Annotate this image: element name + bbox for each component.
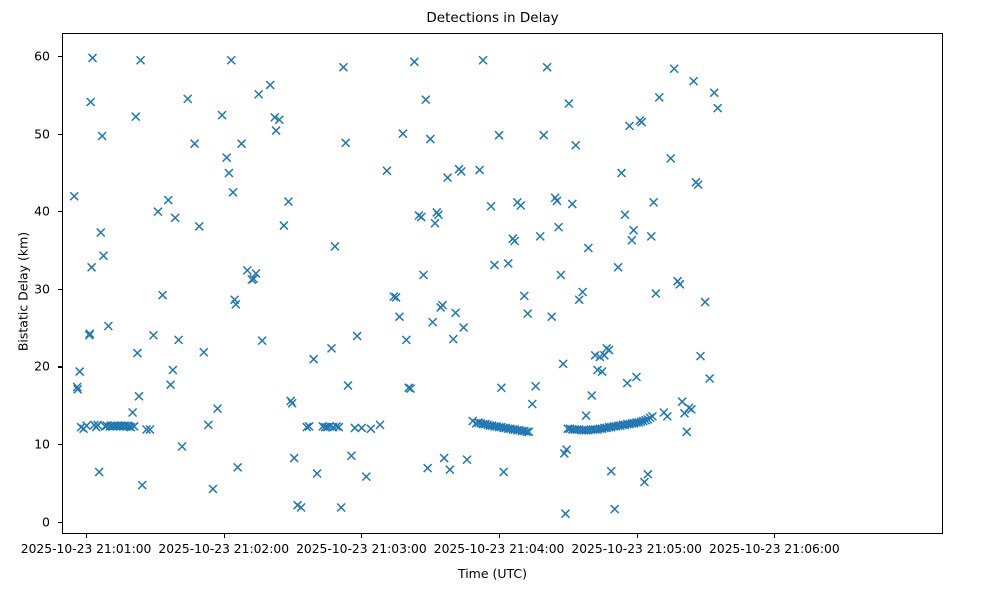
- y-tick-mark: [58, 211, 62, 212]
- chart-title: Detections in Delay: [0, 10, 985, 26]
- scatter-layer: [63, 34, 942, 533]
- y-tick-mark: [58, 134, 62, 135]
- x-tick-mark: [86, 534, 87, 538]
- x-tick-label: 2025-10-23 21:06:00: [709, 542, 840, 556]
- x-tick-mark: [499, 534, 500, 538]
- y-tick-label: 60: [10, 49, 50, 64]
- x-tick-label: 2025-10-23 21:04:00: [434, 542, 565, 556]
- y-tick-mark: [58, 56, 62, 57]
- plot-area: [62, 33, 943, 534]
- x-tick-label: 2025-10-23 21:02:00: [158, 542, 289, 556]
- figure: Detections in Delay 0102030405060 2025-1…: [0, 0, 985, 590]
- x-tick-mark: [361, 534, 362, 538]
- x-axis-label: Time (UTC): [0, 566, 985, 581]
- x-tick-mark: [774, 534, 775, 538]
- x-tick-label: 2025-10-23 21:03:00: [296, 542, 427, 556]
- y-tick-label: 0: [10, 514, 50, 529]
- y-axis-label: Bistatic Delay (km): [16, 152, 31, 432]
- y-tick-label: 10: [10, 437, 50, 452]
- y-tick-mark: [58, 289, 62, 290]
- y-tick-mark: [58, 366, 62, 367]
- y-tick-mark: [58, 522, 62, 523]
- y-tick-label: 50: [10, 126, 50, 141]
- x-tick-mark: [637, 534, 638, 538]
- y-tick-mark: [58, 444, 62, 445]
- x-tick-label: 2025-10-23 21:01:00: [21, 542, 152, 556]
- x-tick-mark: [224, 534, 225, 538]
- x-tick-label: 2025-10-23 21:05:00: [571, 542, 702, 556]
